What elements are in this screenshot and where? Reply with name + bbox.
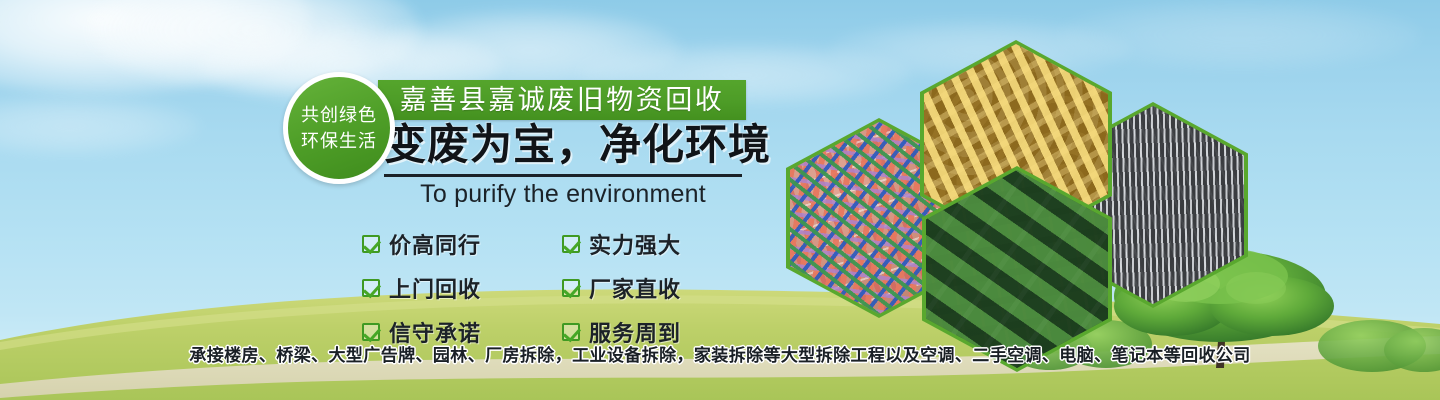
banner-text-block: 嘉善县嘉诚废旧物资回收 共创绿色 环保生活 变废为宝，净化环境 To purif… <box>0 0 780 400</box>
check-icon <box>362 235 380 253</box>
feature-item: 上门回收 <box>362 272 562 304</box>
feature-label: 上门回收 <box>389 272 481 304</box>
feature-checklist: 价高同行 实力强大 上门回收 厂家直收 信守承诺 服务周到 <box>362 228 762 348</box>
check-icon <box>562 323 580 341</box>
badge-line-2: 环保生活 <box>301 128 377 154</box>
check-icon <box>562 279 580 297</box>
check-icon <box>362 323 380 341</box>
feature-item: 价高同行 <box>362 228 562 260</box>
english-subline: To purify the environment <box>384 180 742 209</box>
feature-label: 价高同行 <box>389 228 481 260</box>
service-scope-text: 承接楼房、桥梁、大型广告牌、园林、厂房拆除，工业设备拆除，家装拆除等大型拆除工程… <box>0 341 1440 366</box>
company-name-bar: 嘉善县嘉诚废旧物资回收 <box>378 80 746 120</box>
check-icon <box>362 279 380 297</box>
badge-line-1: 共创绿色 <box>301 102 377 128</box>
company-name: 嘉善县嘉诚废旧物资回收 <box>400 87 725 114</box>
recycling-company-banner: 嘉善县嘉诚废旧物资回收 共创绿色 环保生活 变废为宝，净化环境 To purif… <box>0 0 1440 400</box>
feature-label: 厂家直收 <box>589 272 681 304</box>
scrap-photo-hex-cluster <box>780 18 1260 348</box>
feature-item: 厂家直收 <box>562 272 762 304</box>
feature-label: 实力强大 <box>589 228 681 260</box>
eco-slogan-badge: 共创绿色 环保生活 <box>283 72 395 184</box>
headline-slogan: 变废为宝，净化环境 <box>384 124 764 166</box>
headline-divider <box>384 174 742 177</box>
check-icon <box>562 235 580 253</box>
feature-item: 实力强大 <box>562 228 762 260</box>
